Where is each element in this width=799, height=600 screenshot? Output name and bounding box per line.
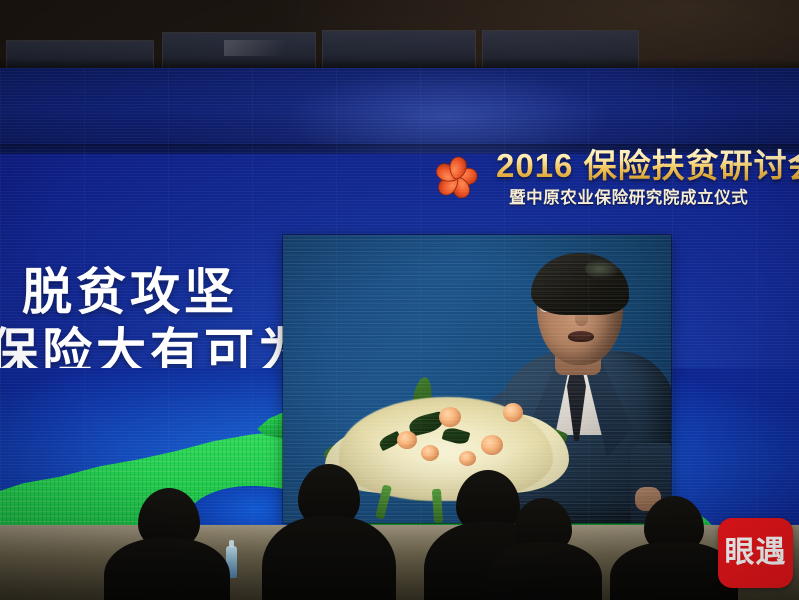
audience-shoulders xyxy=(486,542,602,600)
event-subtitle: 暨中原农业保险研究院成立仪式 xyxy=(509,188,748,208)
audience-person xyxy=(486,498,602,600)
ceiling-area xyxy=(0,0,799,72)
watermark-text: 眼遇 xyxy=(725,538,787,568)
audience-shoulders xyxy=(104,538,230,600)
watermark-badge: 眼遇 xyxy=(718,518,793,588)
window-light-streak xyxy=(224,40,315,56)
event-title: 2016 保险扶贫研讨会 xyxy=(496,148,799,184)
audience-shoulders xyxy=(262,516,396,600)
conference-photo: 2016 保险扶贫研讨会 暨中原农业保险研究院成立仪式 脱贫攻坚 保险大有可为 … xyxy=(0,0,799,600)
audience-person xyxy=(262,464,396,600)
audience-person xyxy=(104,488,230,600)
rosette-emblem-icon xyxy=(428,150,484,206)
slogan-line-1: 脱贫攻坚 xyxy=(22,264,238,320)
